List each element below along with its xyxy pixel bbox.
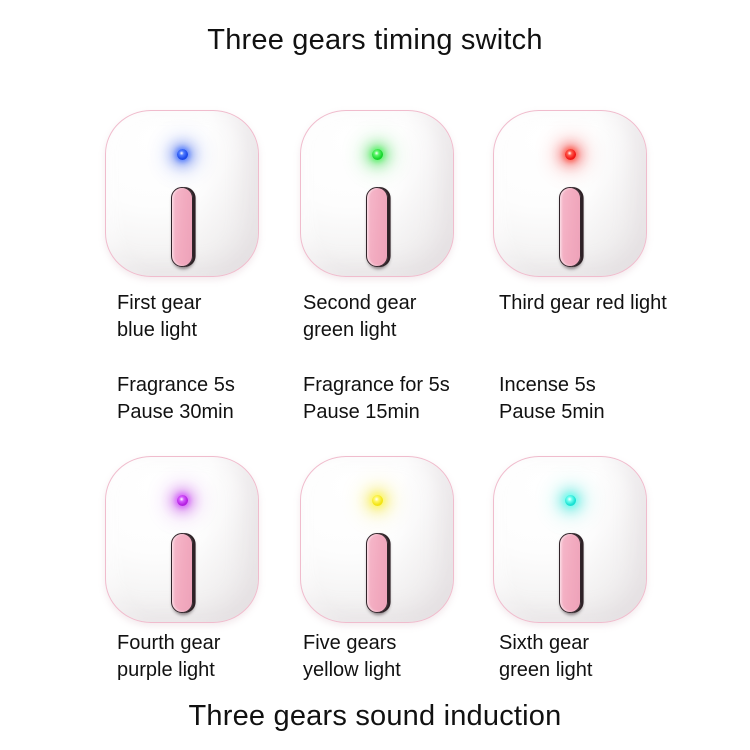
device-cell [275,450,475,630]
power-slot-button[interactable] [171,533,193,613]
power-slot-button[interactable] [559,533,581,613]
diffuser-device-fifth-gear[interactable] [300,456,454,623]
top-heading: Three gears timing switch [0,24,750,57]
power-slot-button[interactable] [171,187,193,267]
yellow-led-icon [372,495,383,506]
bottom-heading: Three gears sound induction [0,700,750,733]
gear-label-second: Second gear green light [303,290,416,344]
gear-label-sixth: Sixth gear green light [499,630,592,684]
timing-label-third: Incense 5s Pause 5min [499,372,605,426]
diffuser-device-sixth-gear[interactable] [493,456,647,623]
gear-label-fourth: Fourth gear purple light [117,630,220,684]
product-infographic: Three gears timing switch First gear blu… [0,0,750,750]
diffuser-device-fourth-gear[interactable] [105,456,259,623]
timing-label-second: Fragrance for 5s Pause 15min [303,372,450,426]
cyan-led-icon [565,495,576,506]
timing-label-first: Fragrance 5s Pause 30min [117,372,235,426]
diffuser-device-third-gear[interactable] [493,110,647,277]
device-cell [80,450,280,630]
device-cell [80,104,280,284]
purple-led-icon [177,495,188,506]
device-row-timing-switch [0,104,750,284]
power-slot-button[interactable] [559,187,581,267]
diffuser-device-second-gear[interactable] [300,110,454,277]
power-slot-button[interactable] [366,187,388,267]
device-cell [468,450,668,630]
gear-label-fifth: Five gears yellow light [303,630,401,684]
diffuser-device-first-gear[interactable] [105,110,259,277]
device-cell [275,104,475,284]
gear-label-first: First gear blue light [117,290,201,344]
blue-led-icon [177,149,188,160]
device-row-sound-induction [0,450,750,630]
green-led-icon [372,149,383,160]
red-led-icon [565,149,576,160]
device-cell [468,104,668,284]
gear-label-third: Third gear red light [499,290,667,317]
power-slot-button[interactable] [366,533,388,613]
